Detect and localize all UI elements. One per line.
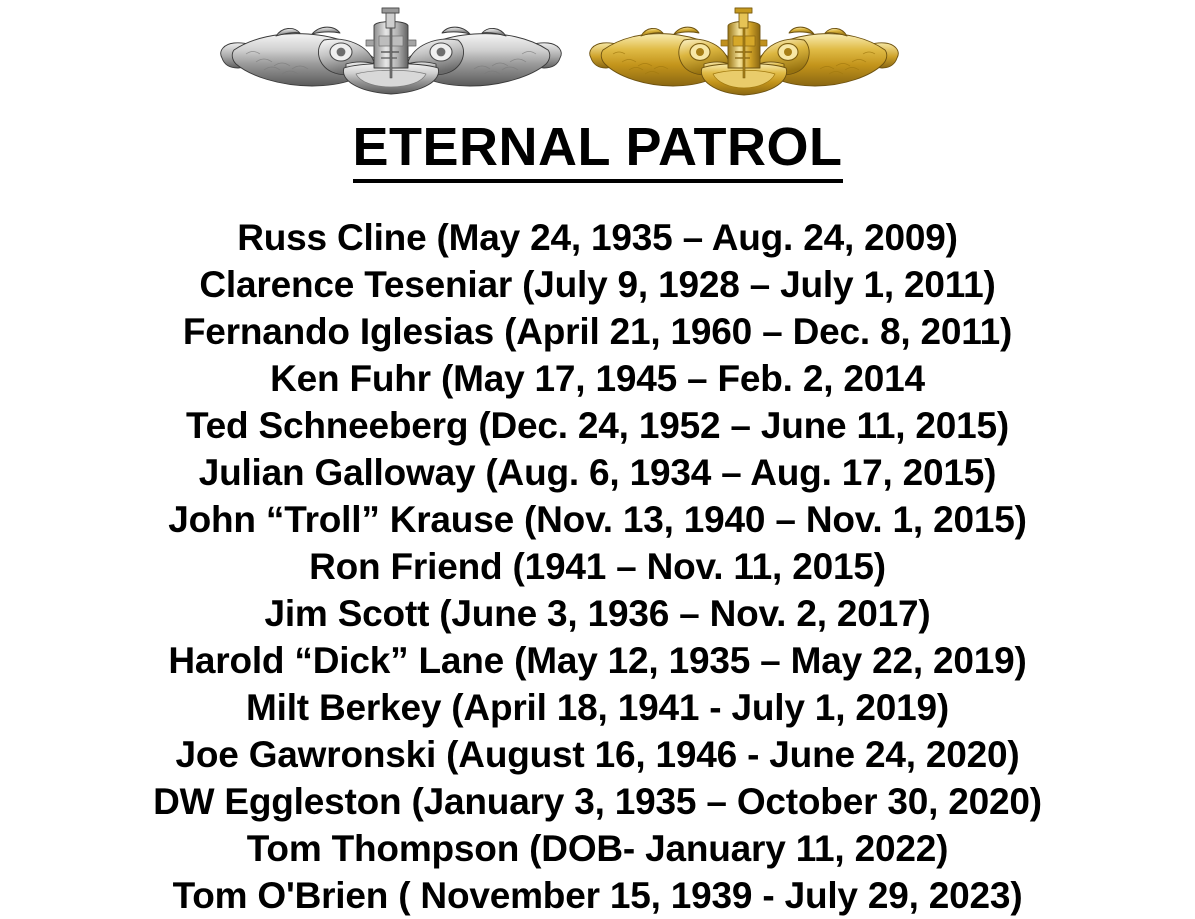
roll-entry: Ken Fuhr (May 17, 1945 – Feb. 2, 2014 [0, 355, 1195, 402]
page-title-text: ETERNAL PATROL [353, 116, 843, 183]
roll-entry: Ted Schneeberg (Dec. 24, 1952 – June 11,… [0, 402, 1195, 449]
roll-entry: Milt Berkey (April 18, 1941 - July 1, 20… [0, 684, 1195, 731]
page-title: ETERNAL PATROL [0, 116, 1195, 183]
eternal-patrol-roll: Russ Cline (May 24, 1935 – Aug. 24, 2009… [0, 214, 1195, 919]
roll-entry: Ron Friend (1941 – Nov. 11, 2015) [0, 543, 1195, 590]
roll-entry: Clarence Teseniar (July 9, 1928 – July 1… [0, 261, 1195, 308]
roll-entry: Julian Galloway (Aug. 6, 1934 – Aug. 17,… [0, 449, 1195, 496]
roll-entry: Harold “Dick” Lane (May 12, 1935 – May 2… [0, 637, 1195, 684]
roll-entry: Tom Thompson (DOB- January 11, 2022) [0, 825, 1195, 872]
roll-entry: Joe Gawronski (August 16, 1946 - June 24… [0, 731, 1195, 778]
roll-entry: John “Troll” Krause (Nov. 13, 1940 – Nov… [0, 496, 1195, 543]
eternal-patrol-page: ETERNAL PATROL Russ Cline (May 24, 1935 … [0, 0, 1195, 917]
silver-dolphins-insignia [216, 6, 566, 102]
insignia-row [0, 0, 1195, 110]
roll-entry: Tom O'Brien ( November 15, 1939 - July 2… [0, 872, 1195, 919]
roll-entry: DW Eggleston (January 3, 1935 – October … [0, 778, 1195, 825]
roll-entry: Russ Cline (May 24, 1935 – Aug. 24, 2009… [0, 214, 1195, 261]
roll-entry: Jim Scott (June 3, 1936 – Nov. 2, 2017) [0, 590, 1195, 637]
roll-entry: Fernando Iglesias (April 21, 1960 – Dec.… [0, 308, 1195, 355]
gold-dolphins-insignia [586, 6, 902, 102]
